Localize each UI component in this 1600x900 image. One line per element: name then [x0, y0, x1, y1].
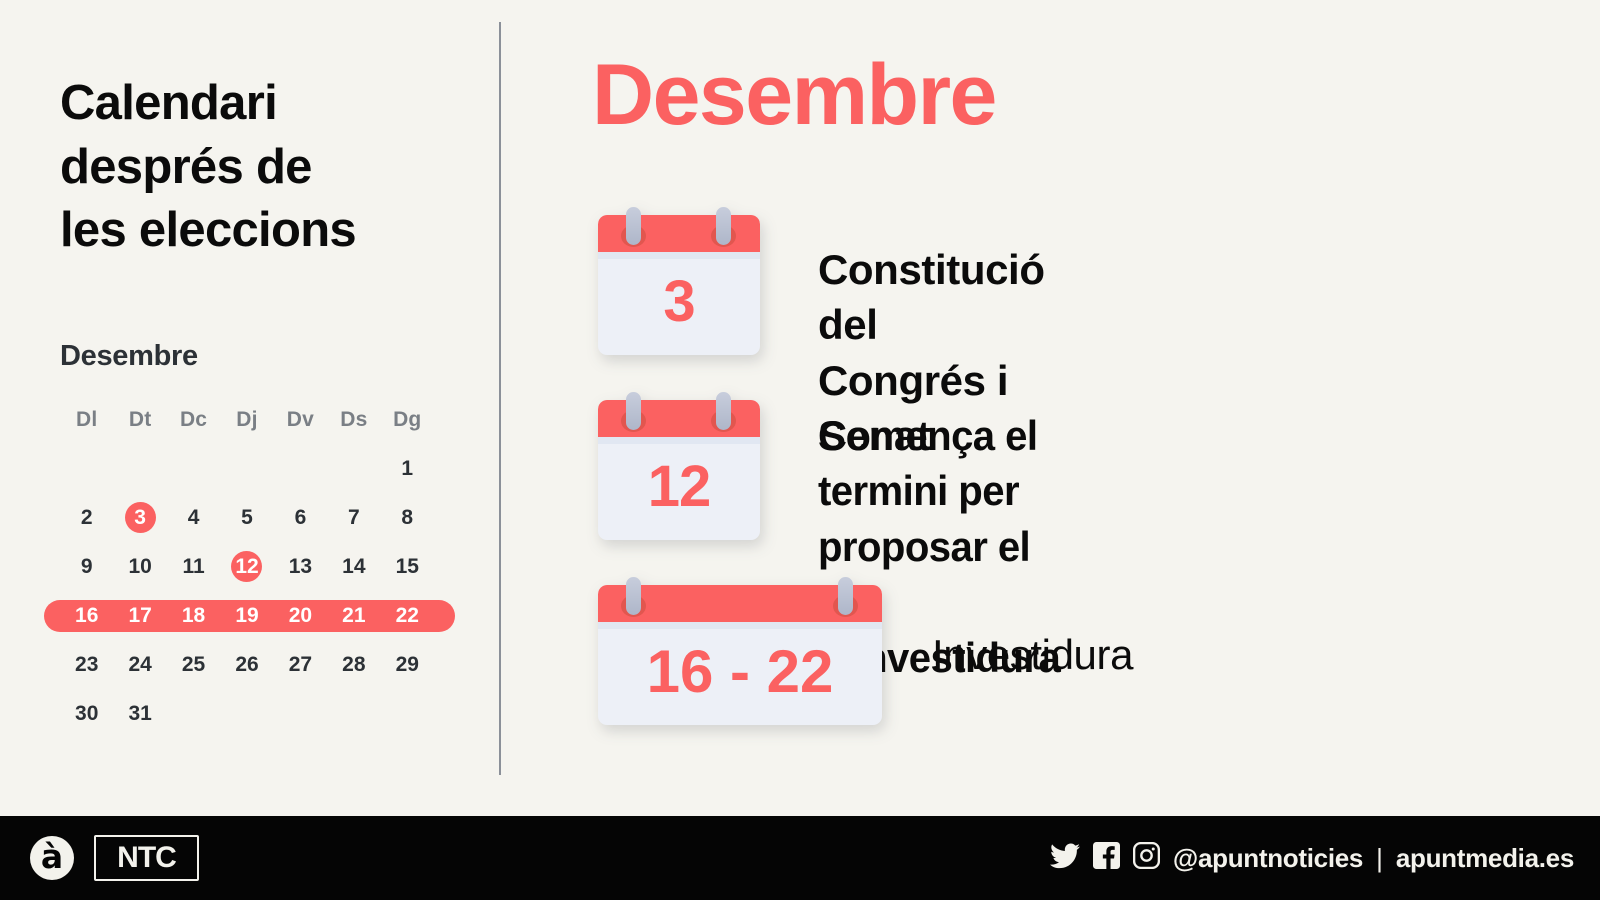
ntc-logo-text: NTC: [117, 841, 176, 875]
calendar-day-cell: 6: [274, 493, 327, 542]
calendar-day-cell: 31: [113, 689, 166, 738]
website-url: apuntmedia.es: [1396, 843, 1574, 874]
calendar-week-row: 1: [60, 444, 434, 493]
apunt-logo: à: [30, 836, 74, 880]
calendar-day-cell-marked: 12: [220, 542, 273, 591]
calendar-day-cell: [327, 444, 380, 493]
calendar-ring-pin: [716, 392, 731, 430]
infographic-canvas: Calendari després de les eleccions Desem…: [0, 0, 1600, 900]
calendar-ring-right: [716, 392, 731, 430]
event-description-3: Investidura: [932, 627, 1133, 682]
calendar-ring-right: [838, 577, 853, 615]
calendar-day-cell: 25: [167, 640, 220, 689]
calendar-ring-pin: [626, 577, 641, 615]
calendar-card-day-number: 12: [598, 437, 760, 540]
instagram-icon[interactable]: [1133, 842, 1160, 874]
calendar-day-cell: 27: [274, 640, 327, 689]
weekday-header-dv: Dv: [274, 395, 327, 444]
weekday-header-dt: Dt: [113, 395, 166, 444]
calendar-ring-pin: [716, 207, 731, 245]
calendar-day-cell: 4: [167, 493, 220, 542]
calendar-day-cell: [167, 444, 220, 493]
calendar-day-cell: 21: [327, 591, 380, 640]
calendar-ring-left: [626, 392, 641, 430]
calendar-week-row: 9 10 11 12 13 14 15: [60, 542, 434, 591]
page-title-line-3: les eleccions: [60, 199, 490, 263]
calendar-week-row-highlighted: 16 17 18 19 20 21 22: [60, 591, 434, 640]
event-description-2-line-1: Comença el termini per: [818, 408, 1060, 519]
calendar-day-cell: 28: [327, 640, 380, 689]
calendar-day-cell: [167, 689, 220, 738]
calendar-card-day-number: 16 - 22: [598, 622, 882, 725]
calendar-day-cell: 7: [327, 493, 380, 542]
apunt-logo-glyph: à: [41, 840, 63, 873]
calendar-day-cell: 1: [381, 444, 434, 493]
calendar-day-cell: 14: [327, 542, 380, 591]
calendar-day-cell: 10: [113, 542, 166, 591]
calendar-day-cell: 5: [220, 493, 273, 542]
ntc-logo: NTC: [94, 835, 199, 881]
calendar-card-icon-16-22: 16 - 22: [598, 585, 882, 725]
left-column: Calendari després de les eleccions Desem…: [60, 72, 490, 738]
calendar-day-cell: 26: [220, 640, 273, 689]
calendar-day-cell: [274, 444, 327, 493]
weekday-header-ds: Ds: [327, 395, 380, 444]
weekday-header-dc: Dc: [167, 395, 220, 444]
calendar-day-cell: 29: [381, 640, 434, 689]
calendar-weekday-header-row: Dl Dt Dc Dj Dv Ds Dg: [60, 395, 434, 444]
calendar-day-cell: 18: [167, 591, 220, 640]
event-description-3-line-1: Investidura: [932, 627, 1133, 682]
footer-separator: |: [1376, 843, 1383, 874]
page-title-line-2: després de: [60, 136, 490, 200]
calendar-day-cell: 11: [167, 542, 220, 591]
calendar-day-cell: [113, 444, 166, 493]
calendar-ring-right: [716, 207, 731, 245]
calendar-day-cell: 22: [381, 591, 434, 640]
calendar-card-icon-12: 12: [598, 400, 760, 540]
calendar-week-row: 30 31: [60, 689, 434, 738]
calendar-card-icon-3: 3: [598, 215, 760, 355]
calendar-day-cell: 9: [60, 542, 113, 591]
footer-bar: à NTC: [0, 816, 1600, 900]
calendar-ring-left: [626, 577, 641, 615]
calendar-grid: Dl Dt Dc Dj Dv Ds Dg 1 2 3: [60, 395, 434, 738]
calendar-day-cell: [220, 689, 273, 738]
calendar-day-cell: 24: [113, 640, 166, 689]
calendar-day-cell: [60, 444, 113, 493]
calendar-day-cell: [327, 689, 380, 738]
calendar-week-row: 2 3 4 5 6 7 8: [60, 493, 434, 542]
calendar-week-row: 23 24 25 26 27 28 29: [60, 640, 434, 689]
weekday-header-dl: Dl: [60, 395, 113, 444]
page-title-line-1: Calendari: [60, 72, 490, 136]
month-heading: Desembre: [592, 52, 996, 138]
calendar-day-cell: 30: [60, 689, 113, 738]
calendar-day-cell: 19: [220, 591, 273, 640]
calendar-ring-pin: [838, 577, 853, 615]
calendar-day-cell: 20: [274, 591, 327, 640]
calendar-day-cell: 2: [60, 493, 113, 542]
weekday-header-dj: Dj: [220, 395, 273, 444]
calendar-day-cell: 8: [381, 493, 434, 542]
twitter-icon[interactable]: [1050, 843, 1080, 874]
calendar-day-cell: 23: [60, 640, 113, 689]
calendar-day-cell: 16: [60, 591, 113, 640]
calendar-card-day-number: 3: [598, 252, 760, 355]
calendar-day-cell: [274, 689, 327, 738]
calendar-month-label: Desembre: [60, 340, 490, 373]
column-divider: [499, 22, 501, 775]
calendar-day-cell: 17: [113, 591, 166, 640]
calendar-ring-pin: [626, 392, 641, 430]
event-description-1-line-1: Constitució del: [818, 242, 1045, 353]
calendar-day-cell: 13: [274, 542, 327, 591]
footer-social-group: @apuntnoticies | apuntmedia.es: [1050, 816, 1574, 900]
facebook-icon[interactable]: [1093, 842, 1120, 874]
right-column: Desembre 3 Constitució del: [560, 0, 1600, 790]
calendar-ring-pin: [626, 207, 641, 245]
social-handle: @apuntnoticies: [1173, 843, 1363, 874]
weekday-header-dg: Dg: [381, 395, 434, 444]
calendar-ring-left: [626, 207, 641, 245]
calendar-day-cell: 15: [381, 542, 434, 591]
calendar-day-cell: [381, 689, 434, 738]
calendar-day-cell: [220, 444, 273, 493]
calendar-day-cell-marked: 3: [113, 493, 166, 542]
page-title: Calendari després de les eleccions: [60, 72, 490, 263]
